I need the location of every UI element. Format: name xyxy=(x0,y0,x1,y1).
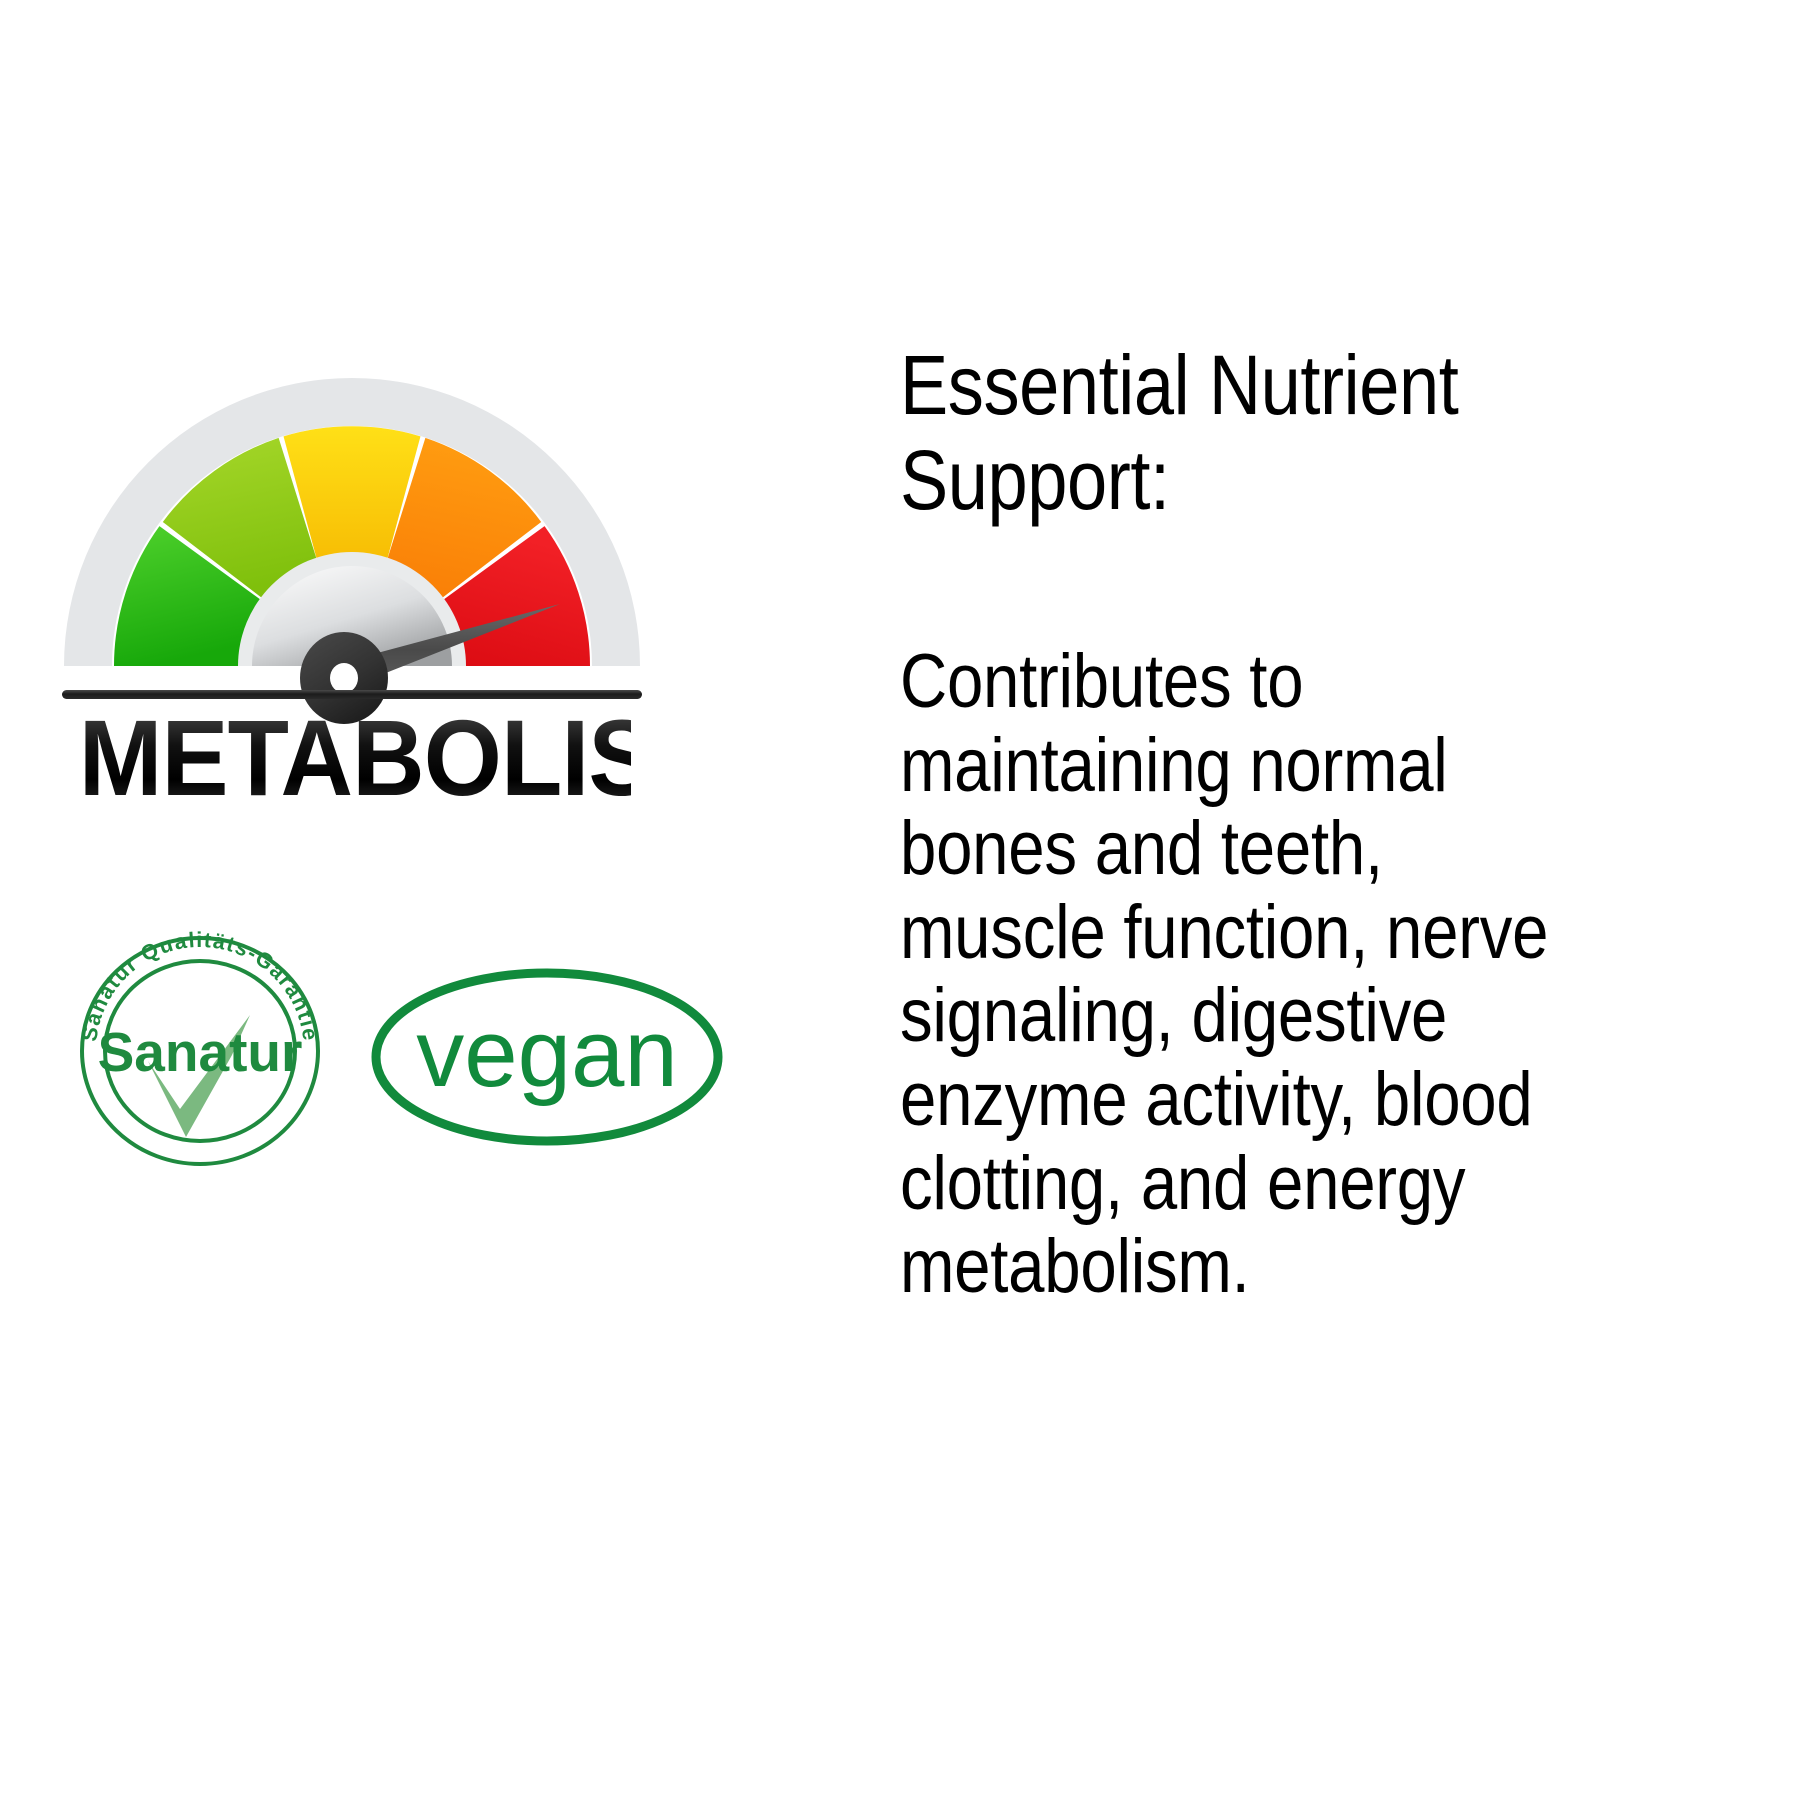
nutrient-support-body: Contributes tomaintaining normalbones an… xyxy=(900,640,1622,1309)
metabolism-gauge-badge: METABOLISM xyxy=(52,366,652,836)
nutrient-support-heading: Essential Nutrient Support: xyxy=(900,338,1571,528)
vegan-seal-icon: vegan xyxy=(370,965,725,1150)
vegan-seal: vegan xyxy=(370,965,725,1150)
body-line: clotting, and energy xyxy=(900,1142,1622,1226)
body-line: bones and teeth, xyxy=(900,807,1622,891)
sanatur-quality-seal: Sanatur Qualitäts-Garantie Sanatur xyxy=(40,923,360,1173)
body-line: enzyme activity, blood xyxy=(900,1058,1622,1142)
body-line: Contributes to xyxy=(900,640,1622,724)
vegan-label: vegan xyxy=(416,1000,678,1107)
metabolism-label: METABOLISM xyxy=(79,704,631,812)
metabolism-gauge-icon xyxy=(52,366,652,726)
certification-seals-row: Sanatur Qualitäts-Garantie Sanatur vegan xyxy=(40,915,740,1185)
sanatur-seal-icon: Sanatur Qualitäts-Garantie Sanatur xyxy=(40,923,360,1173)
left-graphics-column: METABOLISM Sanatur Qualitäts-Garantie Sa… xyxy=(0,0,760,1800)
body-line: muscle function, nerve xyxy=(900,891,1622,975)
body-line: signaling, digestive xyxy=(900,974,1622,1058)
body-line: metabolism. xyxy=(900,1225,1622,1309)
sanatur-center-text: Sanatur xyxy=(98,1021,303,1083)
body-line: maintaining normal xyxy=(900,724,1622,808)
right-text-column: Essential Nutrient Support: Contributes … xyxy=(900,0,1760,1800)
